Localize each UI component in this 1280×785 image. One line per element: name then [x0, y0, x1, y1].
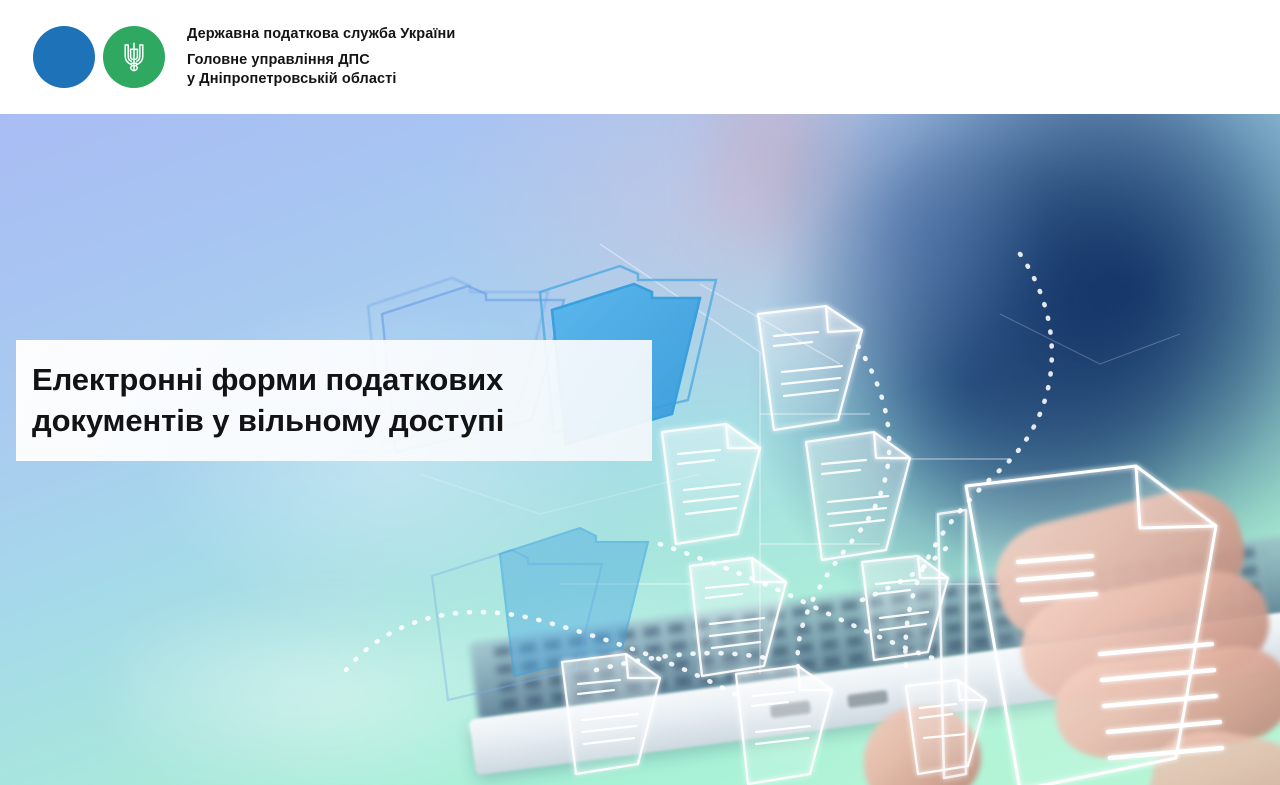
background-person-blur — [700, 114, 1280, 614]
hero-title-plate: Електронні форми податкових документів у… — [16, 340, 652, 461]
document-icon-secondary-foreground — [938, 510, 966, 778]
background-desk-glow — [120, 525, 880, 785]
hand-finger-3 — [1050, 640, 1280, 764]
banner-page: Державна податкова служба України Головн… — [0, 0, 1280, 785]
logo-green-circle — [103, 26, 165, 88]
laptop-base — [469, 610, 1280, 775]
folder-icon-outline-lower — [432, 550, 602, 700]
laptop-keyboard — [469, 535, 1280, 721]
document-icon-large-foreground — [966, 466, 1216, 785]
ukraine-trident-icon — [119, 39, 149, 75]
hand-pressing-finger — [852, 694, 989, 785]
laptop-usb-port-1 — [770, 700, 811, 718]
header-text-block: Державна податкова служба України Головн… — [187, 25, 1280, 89]
logo-blue-circle — [33, 26, 95, 88]
laptop-edge-highlight — [470, 614, 1280, 732]
dps-logo[interactable] — [33, 26, 173, 89]
hand-finger-2 — [1012, 561, 1277, 711]
hand-finger-1 — [984, 478, 1255, 653]
site-header: Державна податкова служба України Головн… — [0, 0, 1280, 114]
organization-name: Державна податкова служба України — [187, 25, 1280, 43]
laptop-illustration — [453, 485, 1280, 785]
laptop-usb-port-2 — [847, 690, 888, 708]
hero-title-line-2: документів у вільному доступі — [32, 401, 642, 441]
department-name: Головне управління ДПС у Дніпропетровськ… — [187, 51, 1280, 89]
dotted-connector-lines — [346, 254, 1052, 698]
hero-banner: Електронні форми податкових документів у… — [0, 114, 1280, 785]
hand-thumb — [1141, 721, 1280, 785]
folder-icon-filled-blue-lower — [500, 528, 648, 676]
document-large-text-lines — [1018, 556, 1222, 758]
hero-title-line-1: Електронні форми податкових — [32, 360, 642, 400]
